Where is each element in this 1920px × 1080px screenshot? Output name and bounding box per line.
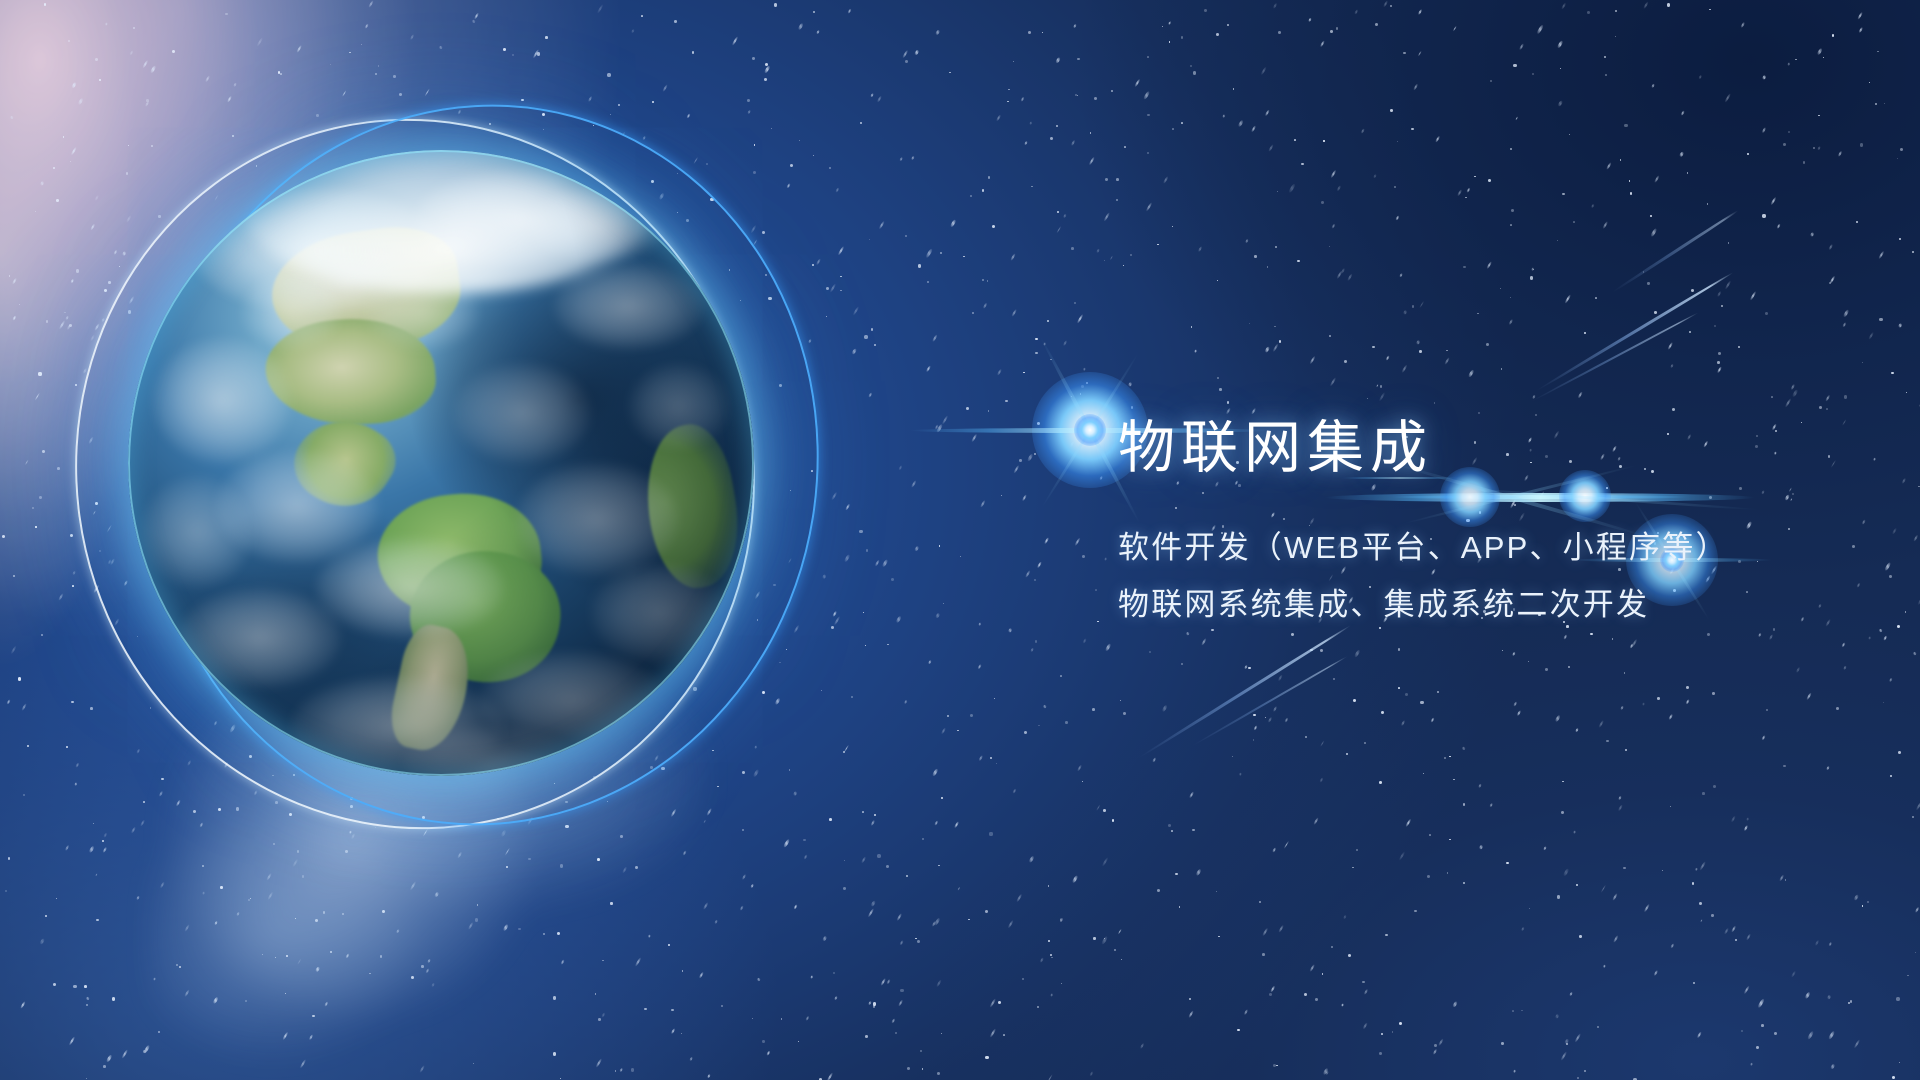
star bbox=[1093, 937, 1095, 939]
star bbox=[1868, 636, 1871, 639]
star bbox=[1031, 186, 1033, 188]
star bbox=[1412, 305, 1414, 307]
star bbox=[1232, 756, 1233, 757]
star bbox=[1848, 1002, 1851, 1005]
star bbox=[256, 37, 263, 47]
star bbox=[102, 840, 104, 842]
star bbox=[1533, 269, 1535, 271]
star bbox=[1383, 1, 1388, 8]
star bbox=[1756, 1046, 1759, 1049]
star bbox=[1889, 678, 1893, 682]
star bbox=[1785, 879, 1787, 881]
star bbox=[1916, 801, 1920, 810]
star bbox=[1644, 904, 1650, 913]
star bbox=[989, 998, 996, 1008]
star bbox=[34, 392, 40, 400]
star bbox=[1005, 400, 1007, 402]
star bbox=[766, 1051, 771, 1057]
star bbox=[1056, 226, 1062, 234]
star bbox=[1590, 204, 1594, 208]
star bbox=[1354, 10, 1358, 15]
star bbox=[58, 593, 64, 601]
star bbox=[911, 480, 917, 488]
star bbox=[1828, 244, 1833, 250]
star bbox=[1758, 998, 1765, 1008]
star bbox=[69, 324, 72, 327]
star bbox=[1512, 1010, 1514, 1012]
star bbox=[84, 985, 87, 988]
star bbox=[1104, 938, 1105, 939]
star bbox=[1320, 649, 1323, 652]
star bbox=[917, 940, 920, 943]
star bbox=[931, 768, 937, 776]
star bbox=[1157, 889, 1160, 892]
star bbox=[1501, 1042, 1504, 1045]
star bbox=[1576, 884, 1579, 887]
star bbox=[95, 873, 98, 877]
star bbox=[1023, 372, 1024, 373]
star bbox=[64, 845, 68, 851]
star bbox=[1344, 360, 1347, 363]
star bbox=[1598, 720, 1604, 728]
star bbox=[1843, 666, 1846, 670]
star bbox=[2, 535, 5, 538]
star bbox=[1364, 989, 1369, 995]
star bbox=[1284, 840, 1290, 849]
star bbox=[1562, 781, 1564, 783]
star bbox=[1001, 495, 1002, 496]
star bbox=[39, 496, 42, 499]
star bbox=[1643, 1, 1649, 9]
star bbox=[799, 140, 800, 141]
star bbox=[762, 1040, 765, 1043]
star bbox=[1537, 24, 1544, 34]
star bbox=[803, 839, 806, 842]
star bbox=[1427, 875, 1430, 878]
star bbox=[1037, 561, 1042, 568]
star bbox=[1749, 291, 1755, 300]
star bbox=[1284, 718, 1288, 723]
star bbox=[1624, 672, 1626, 674]
star bbox=[1577, 1077, 1579, 1079]
star bbox=[1423, 773, 1425, 775]
star bbox=[1836, 707, 1839, 710]
star bbox=[1103, 809, 1106, 812]
star bbox=[1169, 41, 1171, 43]
star bbox=[368, 0, 374, 8]
star bbox=[1169, 20, 1172, 24]
star bbox=[1745, 933, 1750, 940]
star bbox=[1529, 908, 1530, 909]
star bbox=[1046, 1074, 1053, 1080]
star bbox=[99, 79, 101, 81]
star bbox=[1795, 59, 1797, 61]
star bbox=[1375, 23, 1378, 26]
star bbox=[925, 366, 930, 373]
star bbox=[38, 372, 41, 375]
star bbox=[1474, 176, 1475, 177]
star bbox=[1788, 131, 1790, 133]
star bbox=[898, 466, 902, 471]
star bbox=[1405, 693, 1408, 696]
star bbox=[1828, 455, 1830, 457]
star bbox=[1320, 41, 1325, 48]
star bbox=[833, 972, 835, 974]
star bbox=[1103, 212, 1110, 221]
star bbox=[1700, 919, 1703, 922]
star bbox=[1080, 393, 1081, 394]
star bbox=[971, 434, 978, 443]
star bbox=[859, 530, 862, 533]
star bbox=[103, 832, 108, 838]
star bbox=[1239, 772, 1243, 776]
star bbox=[1566, 1043, 1569, 1046]
star bbox=[1193, 71, 1196, 74]
star bbox=[1050, 359, 1051, 360]
star bbox=[1878, 251, 1885, 260]
star bbox=[940, 252, 942, 254]
star bbox=[1432, 1049, 1437, 1055]
star bbox=[1449, 839, 1451, 841]
star bbox=[918, 264, 922, 268]
star bbox=[789, 769, 790, 770]
star bbox=[1245, 239, 1249, 243]
comet-streak bbox=[1536, 271, 1735, 392]
star bbox=[1051, 957, 1053, 959]
star bbox=[1319, 778, 1323, 783]
star bbox=[902, 50, 909, 59]
star bbox=[1191, 326, 1193, 328]
star bbox=[25, 460, 29, 465]
star bbox=[1697, 1032, 1702, 1039]
star bbox=[545, 36, 548, 39]
star bbox=[915, 938, 917, 940]
star bbox=[1603, 964, 1607, 968]
star bbox=[1348, 954, 1351, 957]
star bbox=[989, 1028, 996, 1038]
star bbox=[1667, 3, 1671, 7]
star bbox=[931, 921, 936, 927]
star bbox=[662, 84, 668, 92]
star bbox=[1738, 346, 1740, 348]
star bbox=[692, 51, 695, 54]
star bbox=[1233, 88, 1234, 89]
star bbox=[831, 492, 838, 501]
star bbox=[1462, 746, 1466, 750]
star bbox=[1192, 829, 1194, 831]
star bbox=[1095, 589, 1097, 591]
star bbox=[113, 250, 118, 256]
star bbox=[1118, 929, 1122, 935]
star bbox=[1702, 792, 1705, 795]
star bbox=[1035, 352, 1038, 355]
star bbox=[32, 507, 34, 509]
star bbox=[1024, 731, 1028, 735]
star bbox=[821, 690, 822, 691]
star bbox=[1561, 811, 1564, 814]
star bbox=[1322, 1068, 1328, 1075]
star bbox=[1724, 94, 1731, 103]
star bbox=[1915, 907, 1919, 913]
star bbox=[826, 316, 827, 317]
star bbox=[928, 660, 932, 665]
star bbox=[1373, 174, 1377, 179]
star bbox=[1535, 414, 1537, 416]
star bbox=[1121, 959, 1122, 960]
star bbox=[833, 616, 839, 625]
star bbox=[1380, 385, 1383, 388]
star bbox=[1147, 56, 1149, 58]
star bbox=[1765, 312, 1769, 316]
star bbox=[793, 905, 797, 910]
star bbox=[133, 27, 135, 29]
star bbox=[1853, 894, 1858, 901]
star bbox=[53, 167, 55, 169]
star bbox=[1123, 712, 1126, 715]
star bbox=[1918, 486, 1920, 488]
star bbox=[1478, 784, 1481, 788]
star bbox=[1532, 73, 1534, 75]
star bbox=[1612, 893, 1618, 901]
star bbox=[997, 368, 1003, 375]
star bbox=[1723, 927, 1729, 934]
star bbox=[1096, 804, 1101, 811]
star bbox=[1329, 378, 1336, 387]
star bbox=[1414, 910, 1416, 912]
star bbox=[1114, 949, 1117, 952]
star bbox=[1304, 993, 1307, 996]
star bbox=[1161, 704, 1167, 711]
star bbox=[1022, 494, 1027, 501]
star bbox=[393, 75, 396, 78]
star bbox=[1320, 740, 1325, 747]
star bbox=[1042, 32, 1044, 34]
star bbox=[1186, 631, 1190, 635]
star bbox=[1362, 981, 1365, 984]
star bbox=[1629, 180, 1631, 182]
star bbox=[1725, 280, 1732, 289]
star bbox=[12, 315, 16, 320]
star bbox=[364, 23, 368, 28]
star bbox=[1265, 109, 1270, 116]
star bbox=[1568, 666, 1570, 668]
star bbox=[56, 898, 57, 899]
star bbox=[829, 284, 836, 294]
star bbox=[771, 128, 773, 130]
star bbox=[1791, 970, 1797, 977]
star bbox=[1672, 408, 1675, 411]
star bbox=[1168, 21, 1172, 25]
star bbox=[1435, 135, 1440, 142]
star bbox=[1082, 781, 1083, 782]
star bbox=[1434, 1044, 1438, 1048]
star bbox=[1399, 1022, 1402, 1025]
star bbox=[6, 699, 10, 704]
star bbox=[826, 1072, 833, 1080]
star bbox=[1227, 401, 1229, 403]
star bbox=[1253, 725, 1257, 730]
star bbox=[1449, 756, 1451, 758]
star bbox=[1073, 24, 1077, 28]
star bbox=[867, 1000, 871, 1005]
star bbox=[1419, 301, 1424, 308]
star bbox=[793, 791, 798, 796]
star bbox=[982, 189, 985, 192]
atmosphere-rim-light bbox=[128, 150, 754, 776]
star bbox=[1818, 115, 1820, 117]
star bbox=[1691, 289, 1694, 292]
star bbox=[1714, 325, 1716, 327]
star bbox=[46, 320, 48, 322]
star bbox=[1899, 1062, 1900, 1063]
star bbox=[1573, 221, 1575, 223]
star bbox=[1336, 270, 1342, 278]
star bbox=[1189, 791, 1194, 798]
star bbox=[927, 281, 928, 282]
star bbox=[1278, 926, 1283, 933]
star bbox=[1679, 151, 1684, 156]
star bbox=[1667, 342, 1673, 350]
hero-subtitle-2: 物联网系统集成、集成系统二次开发 bbox=[1118, 589, 1818, 620]
star bbox=[1827, 995, 1831, 999]
star bbox=[1086, 382, 1087, 383]
star bbox=[1841, 643, 1845, 648]
star bbox=[1277, 191, 1278, 192]
star bbox=[130, 827, 136, 834]
star bbox=[1430, 717, 1434, 722]
star bbox=[864, 335, 868, 339]
star bbox=[1809, 232, 1813, 237]
star bbox=[926, 249, 933, 259]
star bbox=[1096, 249, 1099, 253]
star bbox=[1116, 178, 1119, 181]
star bbox=[739, 905, 743, 910]
star bbox=[1022, 978, 1024, 980]
star bbox=[143, 801, 145, 803]
star bbox=[1825, 619, 1830, 626]
star bbox=[1104, 260, 1106, 262]
star bbox=[1761, 736, 1765, 741]
star bbox=[1309, 964, 1315, 972]
star bbox=[1618, 805, 1623, 812]
star bbox=[1506, 862, 1508, 864]
star bbox=[375, 73, 378, 76]
star bbox=[840, 290, 842, 292]
star bbox=[1532, 395, 1536, 399]
star bbox=[1721, 305, 1723, 307]
star bbox=[958, 886, 961, 890]
star bbox=[1074, 302, 1076, 304]
star bbox=[587, 96, 592, 102]
star bbox=[225, 13, 228, 16]
star bbox=[1340, 1003, 1343, 1007]
star bbox=[932, 334, 938, 342]
star bbox=[1806, 692, 1812, 700]
star bbox=[793, 624, 800, 633]
star bbox=[1907, 975, 1909, 977]
star bbox=[897, 913, 903, 921]
star bbox=[1486, 261, 1492, 269]
star bbox=[42, 450, 45, 453]
star bbox=[1379, 1052, 1382, 1055]
star bbox=[1560, 1051, 1567, 1061]
star bbox=[1354, 649, 1360, 657]
star bbox=[1842, 323, 1846, 328]
star bbox=[1110, 255, 1114, 260]
star bbox=[1372, 346, 1375, 349]
star bbox=[1530, 276, 1533, 279]
star bbox=[1718, 352, 1721, 355]
star bbox=[1028, 856, 1034, 863]
star bbox=[232, 135, 234, 137]
star bbox=[234, 83, 237, 87]
star bbox=[1565, 295, 1572, 305]
star bbox=[1124, 146, 1126, 148]
star bbox=[1309, 356, 1316, 365]
star bbox=[1770, 197, 1777, 206]
star bbox=[73, 985, 77, 989]
star bbox=[1331, 946, 1334, 949]
star bbox=[851, 696, 853, 698]
star bbox=[1007, 101, 1008, 102]
star bbox=[866, 549, 869, 552]
star bbox=[1127, 382, 1131, 387]
star bbox=[985, 910, 988, 913]
comet-streak bbox=[1191, 655, 1348, 747]
star bbox=[1662, 870, 1663, 871]
star bbox=[1912, 816, 1915, 819]
star bbox=[1418, 51, 1422, 57]
star bbox=[895, 1032, 897, 1034]
star bbox=[1689, 331, 1691, 333]
star bbox=[1554, 1013, 1558, 1018]
star bbox=[1305, 736, 1307, 738]
star bbox=[1884, 103, 1885, 104]
star bbox=[1717, 361, 1720, 364]
star bbox=[1181, 36, 1184, 39]
star bbox=[18, 677, 21, 680]
star bbox=[1642, 702, 1645, 706]
star bbox=[473, 12, 478, 19]
star bbox=[1048, 940, 1050, 942]
star bbox=[1360, 128, 1364, 133]
star bbox=[1654, 970, 1659, 976]
star bbox=[870, 93, 874, 98]
star bbox=[1740, 22, 1745, 28]
star bbox=[1075, 94, 1077, 96]
comet-streak bbox=[1138, 624, 1352, 759]
star bbox=[1862, 905, 1864, 907]
star bbox=[1198, 246, 1203, 252]
star bbox=[1398, 648, 1401, 651]
star bbox=[1685, 699, 1689, 704]
star bbox=[1244, 665, 1248, 670]
star bbox=[860, 122, 862, 124]
star bbox=[1016, 894, 1023, 903]
star bbox=[1862, 519, 1866, 524]
star bbox=[742, 874, 747, 880]
star bbox=[68, 40, 70, 42]
star bbox=[1035, 338, 1037, 340]
star bbox=[1438, 1038, 1444, 1046]
star bbox=[1131, 406, 1134, 409]
star bbox=[1116, 199, 1118, 201]
star bbox=[503, 48, 506, 51]
star bbox=[1613, 935, 1619, 943]
star bbox=[1898, 751, 1901, 754]
star bbox=[978, 755, 983, 761]
star bbox=[145, 101, 149, 107]
